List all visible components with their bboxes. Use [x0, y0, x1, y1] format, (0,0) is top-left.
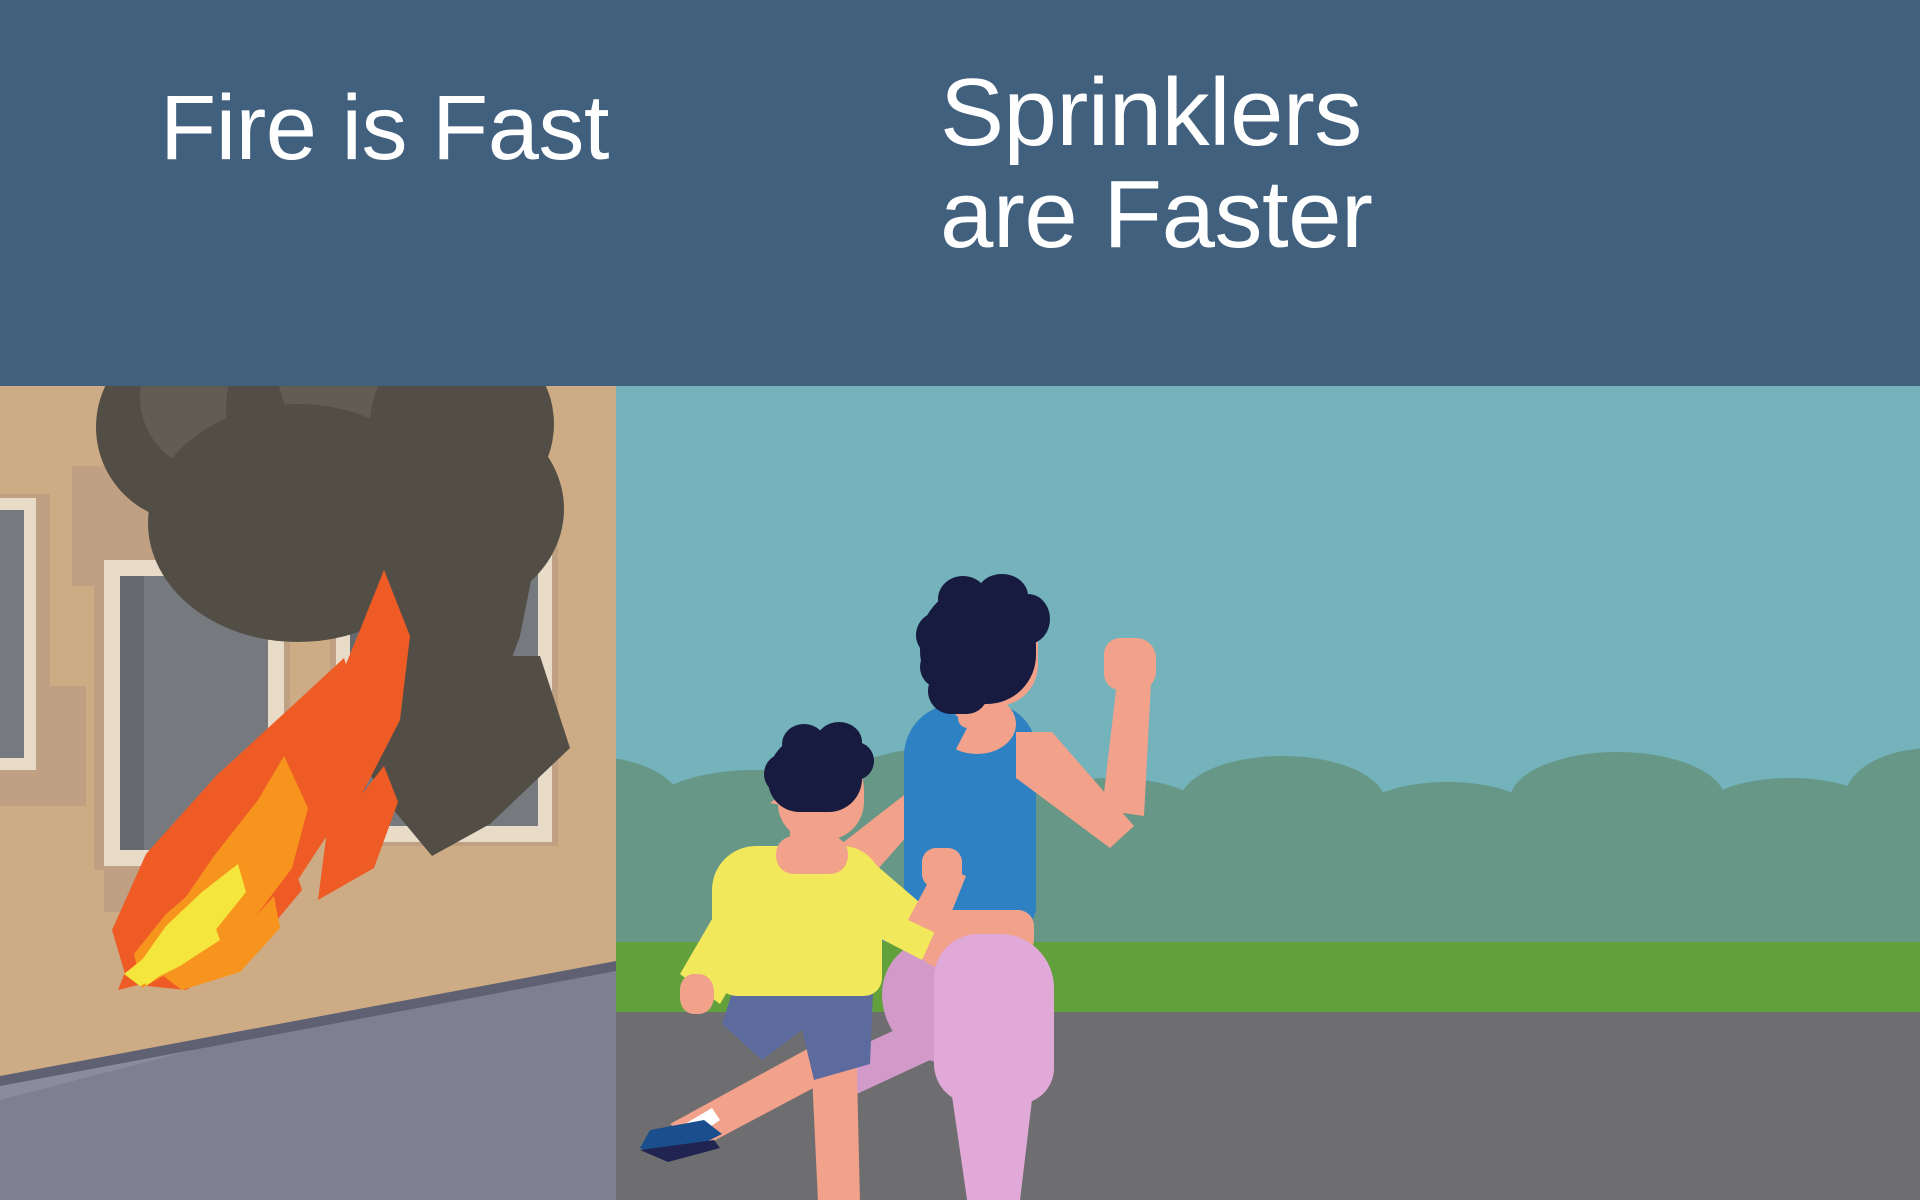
- child-runner: [640, 736, 1000, 1200]
- scene-burning-building: [0, 386, 616, 1200]
- poster-root: Fire is Fast Sprinklers are Faster: [0, 0, 1920, 1200]
- headline-sprinklers-are-faster: Sprinklers are Faster: [940, 62, 1372, 266]
- headline-fire-is-fast: Fire is Fast: [160, 80, 609, 178]
- bush: [1845, 748, 1920, 848]
- child-front-hand: [922, 848, 962, 888]
- bush: [1360, 782, 1535, 848]
- illustration-stage: [0, 386, 1920, 1200]
- header-band: Fire is Fast Sprinklers are Faster: [0, 0, 1920, 386]
- woman-hair-back: [928, 668, 988, 714]
- window-glass: [0, 510, 24, 758]
- child-rear-hand: [680, 974, 714, 1014]
- woman-front-fist: [1104, 638, 1156, 690]
- bush: [1510, 752, 1725, 848]
- flame-icon: [112, 570, 402, 990]
